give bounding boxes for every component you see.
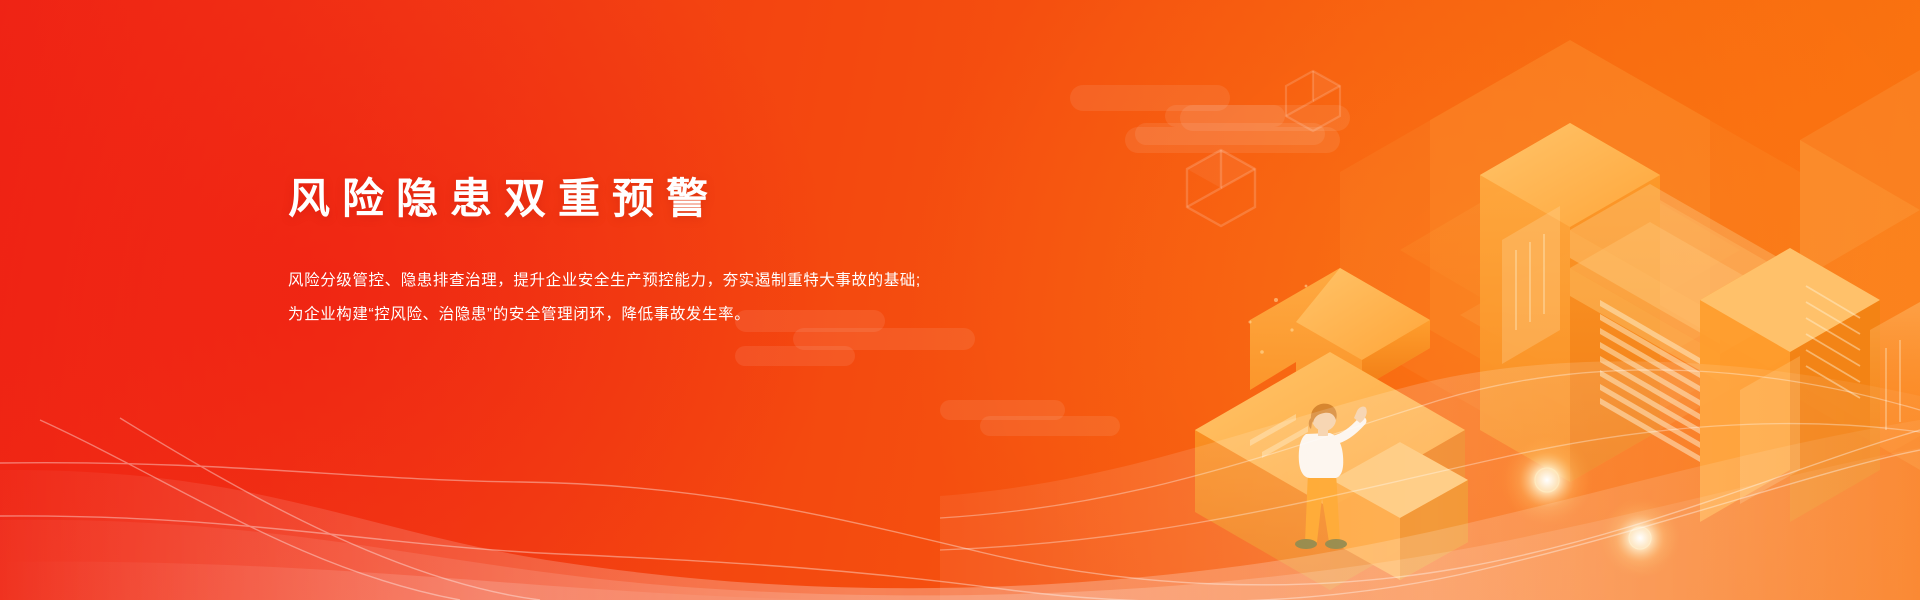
base-block-left [1195,352,1465,590]
isometric-city-illustration [1100,0,1920,600]
glow-spark-icon-1 [1501,434,1593,526]
cloud-icon-mid-left [1135,105,1385,165]
hero-description-line-1: 风险分级管控、隐患排查治理，提升企业安全生产预控能力，夯实遏制重特大事故的基础; [288,264,1188,298]
stacked-slabs [1570,184,1800,462]
person-figure [1295,404,1367,549]
glow-spark-icon-2 [1600,498,1680,578]
cube-block-front [1332,442,1468,580]
page-title: 风险隐患双重预警 [288,176,1188,222]
shoe-right [1325,539,1347,549]
hero-copy-block: 风险隐患双重预警 风险分级管控、隐患排查治理，提升企业安全生产预控能力，夯实遏制… [288,176,1188,332]
cloud-icon-top [1070,85,1350,155]
glass-panel-right [1870,302,1920,464]
shoe-left [1295,539,1317,549]
hero-description-line-2: 为企业构建“控风险、治隐患”的安全管理闭环，降低事故发生率。 [288,298,1188,332]
wireframe-cube-icon-large [1182,146,1260,230]
ghost-slabs [1340,40,1860,462]
server-tower-center [1480,123,1660,482]
hero-description: 风险分级管控、隐患排查治理，提升企业安全生产预控能力，夯实遏制重特大事故的基础;… [288,264,1188,332]
tower-prisms-right [1700,248,1880,522]
cloud-icon-far-left [940,400,1120,440]
wave-decoration-right [940,300,1920,600]
louvre-lines [1600,300,1700,462]
hero-banner: 风险隐患双重预警 风险分级管控、隐患排查治理，提升企业安全生产预控能力，夯实遏制… [0,0,1920,600]
particle-dots [1249,285,1308,354]
wireframe-cube-icon-small [1282,68,1344,134]
ghost-tower-right [1800,70,1920,470]
chevron-block [1250,268,1430,470]
